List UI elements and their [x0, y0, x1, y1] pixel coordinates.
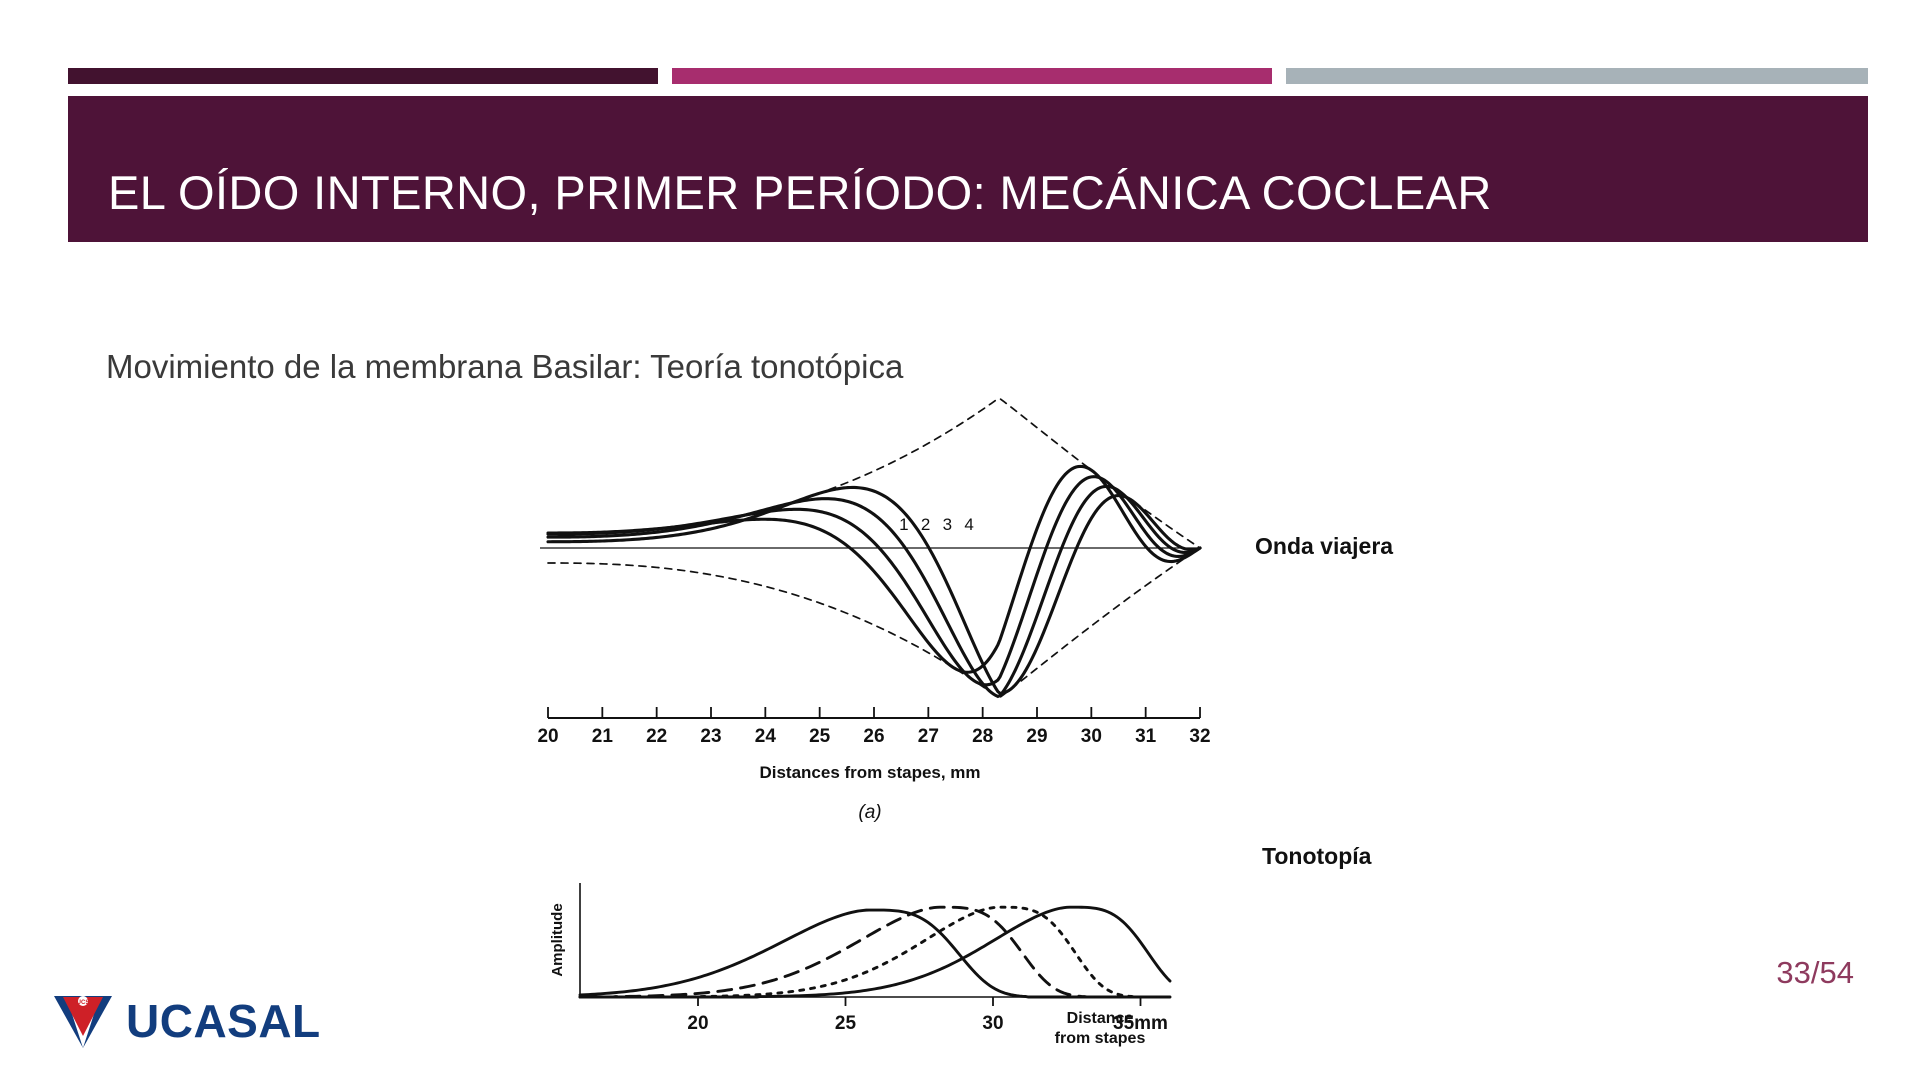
- tonotopy-x-axis-label-line1: Distance: [1067, 1010, 1134, 1027]
- label-onda-viajera: Onda viajera: [1255, 533, 1393, 560]
- wave-curve-index-4: 4: [964, 515, 973, 534]
- wave-tick-label: 21: [592, 726, 614, 747]
- page-title: EL OÍDO INTERNO, PRIMER PERÍODO: MECÁNIC…: [108, 165, 1492, 220]
- tonotopy-curve-curve-2: [580, 907, 1170, 997]
- wave-tick-label: 31: [1135, 726, 1157, 747]
- wave-tick-label: 20: [537, 726, 558, 747]
- wave-x-axis: 20212223242526272829303132: [537, 707, 1210, 747]
- tonotopy-curve-curve-4: [580, 907, 1170, 997]
- label-tonotopia: Tonotopía: [1262, 843, 1371, 870]
- traveling-wave-chart: 1234 20212223242526272829303132 Distance…: [540, 388, 1240, 838]
- top-bar-grey: [1286, 68, 1868, 84]
- wave-tick-label: 26: [863, 726, 884, 747]
- tonotopy-tick-label: 25: [835, 1013, 857, 1034]
- wave-tick-label: 22: [646, 726, 667, 747]
- tonotopy-curve-group: [580, 907, 1170, 997]
- tonotopy-chart: Amplitude 20253035mm Distance from stape…: [540, 875, 1240, 1075]
- wave-tick-label: 23: [700, 726, 721, 747]
- ucasal-wordmark: UCASAL: [126, 998, 321, 1044]
- wave-curve-2: [548, 477, 1200, 685]
- wave-figure-caption: (a): [858, 802, 881, 823]
- wave-tick-label: 27: [918, 726, 939, 747]
- wave-curve-envelope-upper: [548, 399, 1200, 548]
- wave-x-axis-label: Distances from stapes, mm: [759, 763, 980, 782]
- svg-text:UCS: UCS: [77, 1000, 90, 1006]
- wave-curve-index-1: 1: [899, 515, 908, 534]
- wave-tick-label: 29: [1026, 726, 1047, 747]
- wave-tick-label: 25: [809, 726, 831, 747]
- tonotopy-figure: Amplitude 20253035mm Distance from stape…: [540, 875, 1240, 1075]
- wave-tick-label: 28: [972, 726, 993, 747]
- wave-tick-label: 30: [1081, 726, 1102, 747]
- top-bar-dark: [68, 68, 658, 84]
- tonotopy-tick-label: 20: [687, 1013, 708, 1034]
- wave-curve-index-3: 3: [943, 515, 952, 534]
- page-number: 33/54: [1776, 955, 1854, 991]
- wave-curve-index-2: 2: [921, 515, 930, 534]
- ucasal-logo: UCS UCASAL: [52, 990, 332, 1052]
- tonotopy-curve-curve-3: [580, 907, 1170, 997]
- wave-curve-3: [548, 486, 1200, 696]
- decorative-top-bars: [68, 68, 1868, 84]
- tonotopy-tick-label: 30: [982, 1013, 1003, 1034]
- subtitle-text: Movimiento de la membrana Basilar: Teorí…: [106, 348, 903, 386]
- title-band: EL OÍDO INTERNO, PRIMER PERÍODO: MECÁNIC…: [68, 96, 1868, 242]
- wave-tick-label: 32: [1189, 726, 1210, 747]
- tonotopy-curve-curve-1: [580, 910, 1170, 997]
- wave-curve-1: [548, 466, 1200, 672]
- top-bar-accent: [672, 68, 1272, 84]
- tonotopy-x-axis-label-line2: from stapes: [1055, 1030, 1146, 1047]
- tonotopy-y-axis-label: Amplitude: [549, 903, 566, 976]
- wave-tick-label: 24: [755, 726, 777, 747]
- ucasal-shield-icon: UCS: [52, 992, 114, 1050]
- wave-curve-4: [548, 487, 1200, 693]
- traveling-wave-figure: 1234 20212223242526272829303132 Distance…: [540, 388, 1240, 838]
